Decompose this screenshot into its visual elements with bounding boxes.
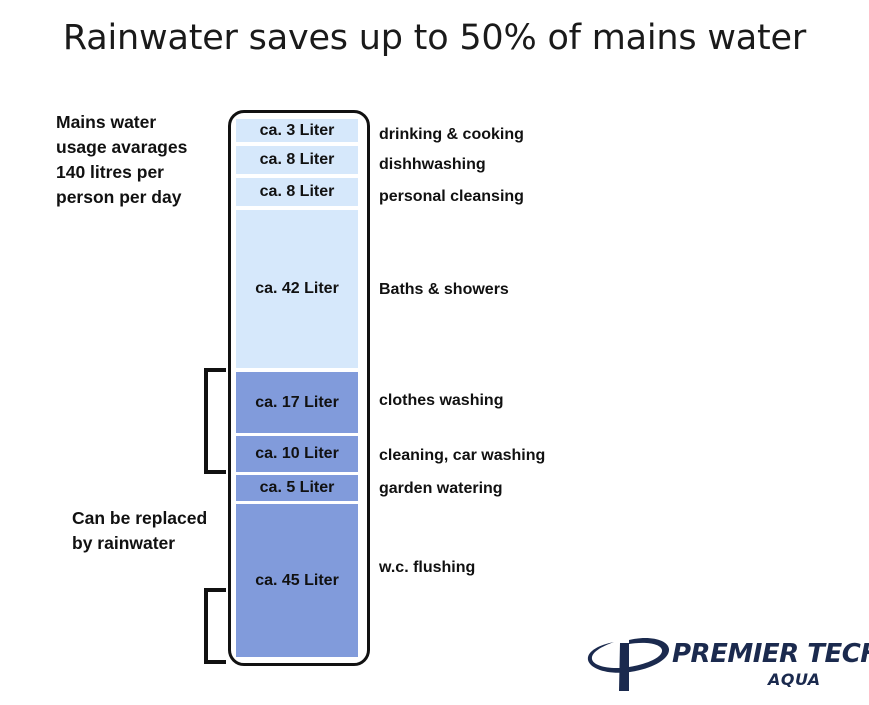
category-label-dishwashing: dishhwashing — [379, 156, 486, 174]
segment-value-label: ca. 45 Liter — [255, 572, 339, 590]
bar-segment-wc-flushing[interactable]: ca. 45 Liter — [236, 504, 358, 657]
segment-value-label: ca. 8 Liter — [260, 151, 335, 169]
segment-value-label: ca. 5 Liter — [260, 479, 335, 497]
logo-wordmark: PREMIER TECH — [672, 639, 869, 669]
bar-segment-drinking-cooking[interactable]: ca. 3 Liter — [236, 119, 358, 142]
segment-value-label: ca. 3 Liter — [260, 122, 335, 140]
category-label-garden-watering: garden watering — [379, 480, 503, 498]
premier-tech-swoosh-p-icon — [586, 634, 670, 692]
segment-value-label: ca. 10 Liter — [255, 445, 339, 463]
category-label-cleaning-car-washing: cleaning, car washing — [379, 447, 545, 465]
bar-segment-personal-cleansing[interactable]: ca. 8 Liter — [236, 178, 358, 206]
category-label-baths-showers: Baths & showers — [379, 281, 509, 299]
logo-division: AQUA — [768, 670, 821, 689]
annotation-replaced-by-rainwater: Can be replaced by rainwater — [72, 506, 222, 556]
bar-segment-dishwashing[interactable]: ca. 8 Liter — [236, 146, 358, 174]
category-label-drinking-cooking: drinking & cooking — [379, 126, 524, 144]
bracket-rainwater-lower — [204, 588, 226, 664]
category-label-wc-flushing: w.c. flushing — [379, 559, 475, 577]
segment-value-label: ca. 17 Liter — [255, 394, 339, 412]
annotation-mains-water-usage: Mains water usage avarages 140 litres pe… — [56, 110, 208, 210]
category-label-clothes-washing: clothes washing — [379, 392, 503, 410]
bar-segment-clothes-washing[interactable]: ca. 17 Liter — [236, 372, 358, 433]
bar-segment-baths-showers[interactable]: ca. 42 Liter — [236, 210, 358, 368]
stacked-bar-chart: ca. 3 Liter ca. 8 Liter ca. 8 Liter ca. … — [0, 0, 869, 705]
bar-segment-cleaning-car-washing[interactable]: ca. 10 Liter — [236, 436, 358, 472]
category-label-personal-cleansing: personal cleansing — [379, 188, 524, 206]
segment-value-label: ca. 8 Liter — [260, 183, 335, 201]
premier-tech-aqua-logo: PREMIER TECH AQUA — [586, 634, 854, 696]
bracket-rainwater-upper — [204, 368, 226, 474]
segment-value-label: ca. 42 Liter — [255, 280, 339, 298]
bar-segment-garden-watering[interactable]: ca. 5 Liter — [236, 475, 358, 501]
